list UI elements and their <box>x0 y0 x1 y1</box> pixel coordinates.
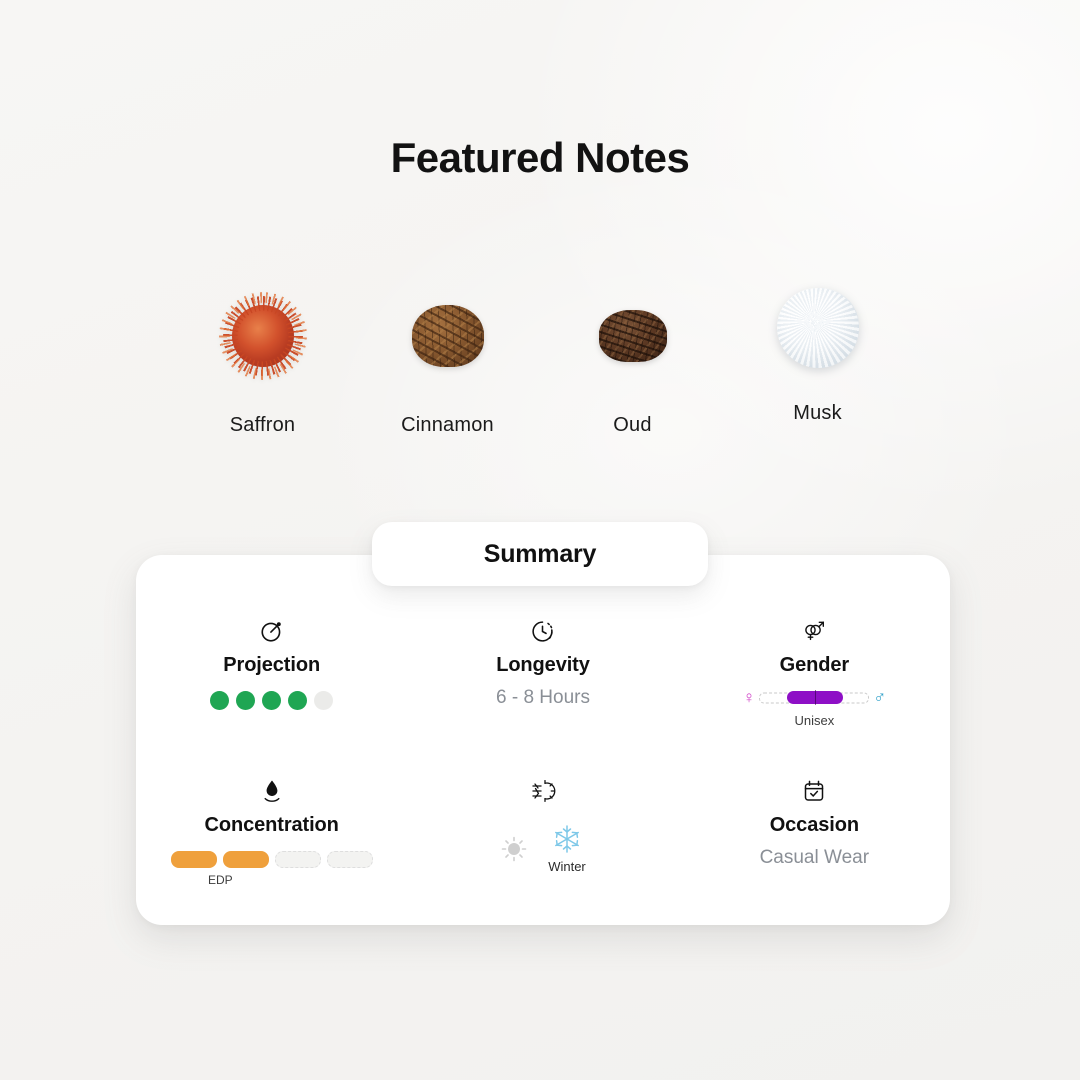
female-symbol-icon: ♀ <box>743 689 756 706</box>
season-option-winter[interactable]: Winter <box>548 824 586 874</box>
gender-slider-thumb[interactable] <box>787 691 843 704</box>
projection-rating[interactable] <box>210 691 333 710</box>
summary-heading-label: Summary <box>484 540 597 569</box>
musk-powder-image <box>770 280 866 376</box>
summary-grid: Projection Longevity <box>136 600 950 920</box>
note-item-cinnamon[interactable]: Cinnamon <box>355 288 540 437</box>
gender-value: Unisex <box>794 713 834 728</box>
concentration-bar[interactable] <box>223 851 269 868</box>
gender-slider-track[interactable] <box>759 692 869 704</box>
cell-title: Longevity <box>496 654 590 677</box>
male-symbol-icon: ♂ <box>873 689 886 706</box>
note-item-saffron[interactable]: Saffron <box>170 288 355 437</box>
sun-snowflake-icon <box>530 776 556 806</box>
concentration-bar[interactable] <box>171 851 217 868</box>
summary-cell-projection: Projection <box>136 600 407 760</box>
calendar-check-icon <box>802 776 826 806</box>
longevity-value: 6 - 8 Hours <box>496 687 590 709</box>
projection-dot[interactable] <box>236 691 255 710</box>
cinnamon-sticks-image <box>400 288 496 384</box>
summary-cell-concentration: Concentration EDP <box>136 760 407 920</box>
cell-title: Occasion <box>770 814 859 837</box>
note-item-oud[interactable]: Oud <box>540 288 725 437</box>
projection-dot[interactable] <box>288 691 307 710</box>
summary-cell-gender: Gender ♀ ♂ Unisex <box>679 600 950 760</box>
gender-slider[interactable]: ♀ ♂ <box>743 689 887 706</box>
season-value: Winter <box>548 859 586 874</box>
concentration-scale[interactable] <box>171 851 373 868</box>
concentration-bar[interactable] <box>327 851 373 868</box>
saffron-threads-image <box>215 288 311 384</box>
projection-dot[interactable] <box>210 691 229 710</box>
clock-icon <box>530 616 555 646</box>
oud-wood-chips-image <box>585 288 681 384</box>
occasion-value: Casual Wear <box>760 847 869 869</box>
summary-cell-longevity: Longevity 6 - 8 Hours <box>407 600 678 760</box>
summary-cell-occasion: Occasion Casual Wear <box>679 760 950 920</box>
featured-notes-row: Saffron Cinnamon Oud Musk <box>170 288 910 437</box>
cell-title: Gender <box>780 654 849 677</box>
note-label: Musk <box>793 402 842 425</box>
concentration-bar[interactable] <box>275 851 321 868</box>
gauge-icon <box>259 616 285 646</box>
projection-dot[interactable] <box>262 691 281 710</box>
season-option-summer[interactable] <box>500 835 528 863</box>
page-title: Featured Notes <box>0 134 1080 182</box>
cell-title: Concentration <box>205 814 339 837</box>
note-label: Cinnamon <box>401 414 494 437</box>
page-root: Featured Notes Saffron Cinnamon Oud Mu <box>0 0 1080 1080</box>
summary-cell-season: Winter <box>407 760 678 920</box>
concentration-value: EDP <box>208 873 233 887</box>
projection-dot[interactable] <box>314 691 333 710</box>
summary-heading-pill: Summary <box>372 522 708 586</box>
cell-title: Projection <box>223 654 320 677</box>
note-label: Oud <box>613 414 651 437</box>
note-item-musk[interactable]: Musk <box>725 288 910 425</box>
droplet-icon <box>261 776 283 806</box>
note-label: Saffron <box>230 414 296 437</box>
gender-symbols-icon <box>801 616 827 646</box>
season-options[interactable]: Winter <box>500 824 586 874</box>
